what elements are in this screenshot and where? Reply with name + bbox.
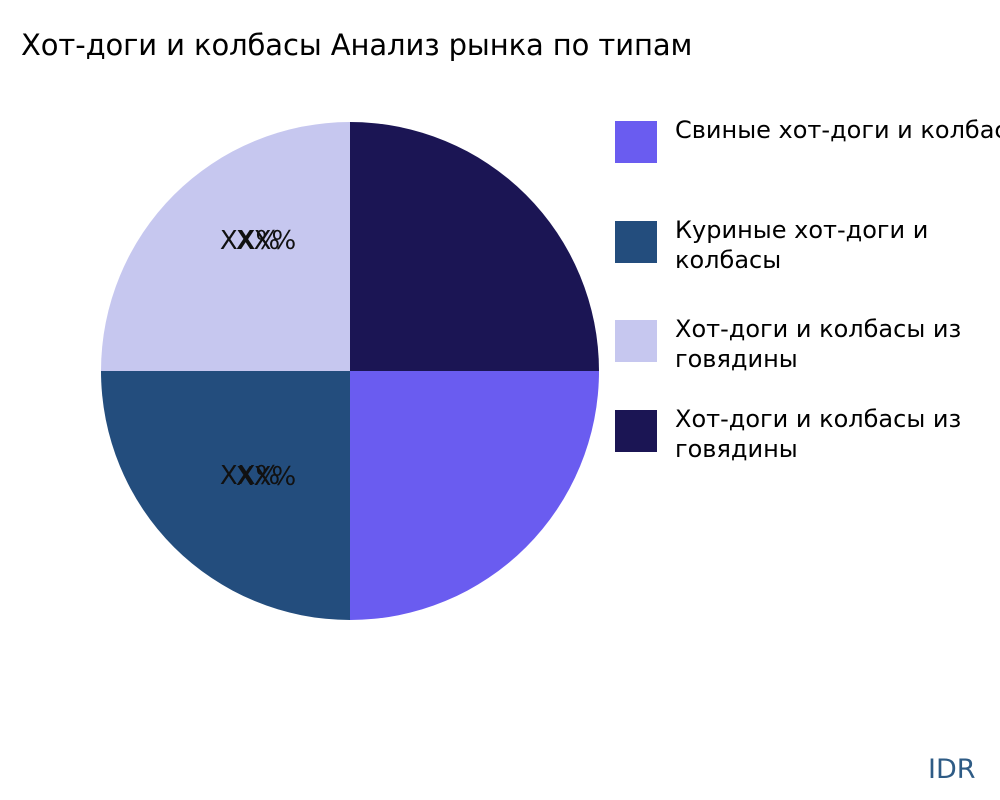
legend-color-swatch-pork — [615, 121, 657, 163]
page-title: Хот-доги и колбасы Анализ рынка по типам — [21, 26, 692, 64]
legend-item-label: Хот-доги и колбасы из говядины — [675, 314, 1000, 374]
legend-color-swatch-beef-dark — [615, 410, 657, 452]
legend-color-swatch-chicken — [615, 221, 657, 263]
pie-slice-label-top-left: XX% — [236, 464, 296, 490]
pie-slice-bottom-right[interactable] — [350, 371, 599, 620]
pie-chart: XX% XX% XX% XX% — [101, 122, 599, 620]
pie-slice-bottom-left[interactable] — [101, 371, 350, 620]
chart-canvas: Хот-доги и колбасы Анализ рынка по типам… — [0, 0, 1000, 800]
legend-item-label: Хот-доги и колбасы из говядины — [675, 404, 1000, 464]
legend-color-swatch-beef-light — [615, 320, 657, 362]
pie-slice-label-bottom-left: XX% — [236, 228, 296, 254]
watermark-idr: IDR — [928, 755, 976, 785]
pie-chart-svg — [101, 122, 599, 620]
legend-item-label: Свиные хот-доги и колбасы — [675, 115, 1000, 145]
pie-slice-top-right[interactable] — [350, 122, 599, 371]
legend-item-label: Куриные хот-доги и колбасы — [675, 215, 1000, 275]
